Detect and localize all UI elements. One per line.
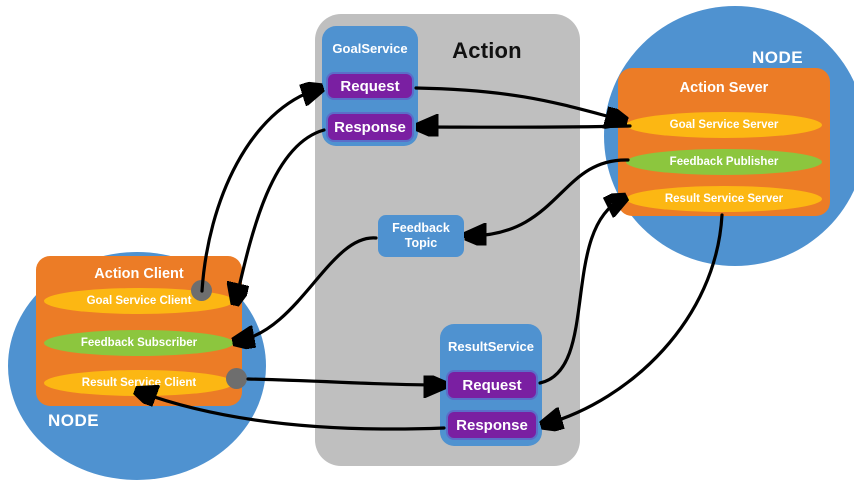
arrow-feedback-topic-to-subscriber (238, 238, 376, 341)
diagram-canvas: Goal Service Client Feedback Subscriber … (0, 0, 854, 480)
arrow-feedback-publisher-to-topic (470, 160, 628, 236)
arrow-goal-client-to-request (202, 89, 318, 291)
arrow-goal-server-to-response (422, 126, 630, 127)
arrow-goal-request-to-server (416, 88, 622, 120)
arrow-result-response-to-client (140, 392, 444, 429)
arrow-layer (0, 0, 854, 480)
arrow-result-client-to-request (248, 379, 440, 385)
arrow-result-request-to-server (540, 199, 622, 383)
arrow-goal-response-to-client (236, 130, 324, 300)
arrow-result-server-to-response (546, 215, 722, 424)
